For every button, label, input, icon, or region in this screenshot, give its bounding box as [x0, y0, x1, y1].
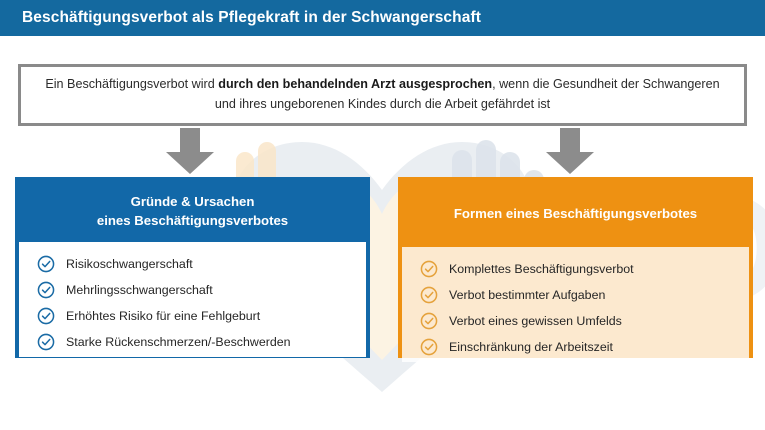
check-circle-icon	[37, 333, 55, 351]
card-gruende-ursachen: Gründe & Ursachen eines Beschäftigungsve…	[15, 177, 370, 358]
list-item: Mehrlingsschwangerschaft	[37, 277, 356, 303]
card-formen: Formen eines Beschäftigungsverbotes Komp…	[398, 177, 753, 358]
list-item-label: Risikoschwangerschaft	[66, 257, 193, 271]
list-item: Verbot bestimmter Aufgaben	[420, 282, 739, 308]
card-left-body: Risikoschwangerschaft Mehrlingsschwanger…	[19, 242, 366, 357]
check-circle-icon	[37, 281, 55, 299]
list-item-label: Verbot bestimmter Aufgaben	[449, 288, 605, 302]
page-title: Beschäftigungsverbot als Pflegekraft in …	[22, 9, 481, 27]
list-item-label: Komplettes Beschäftigungsverbot	[449, 262, 634, 276]
list-item: Erhöhtes Risiko für eine Fehlgeburt	[37, 303, 356, 329]
page-header-bar: Beschäftigungsverbot als Pflegekraft in …	[0, 0, 765, 36]
list-item: Komplettes Beschäftigungsverbot	[420, 256, 739, 282]
check-circle-icon	[420, 312, 438, 330]
intro-statement-box: Ein Beschäftigungsverbot wird durch den …	[18, 64, 747, 126]
card-left-header: Gründe & Ursachen eines Beschäftigungsve…	[19, 181, 366, 242]
list-item-label: Einschränkung der Arbeitszeit	[449, 340, 613, 354]
infographic-page: PMI RO Beschäftigungsverbot als Pflegekr…	[0, 0, 765, 430]
list-item: Risikoschwangerschaft	[37, 251, 356, 277]
card-right-header: Formen eines Beschäftigungsverbotes	[402, 181, 749, 247]
check-circle-icon	[420, 338, 438, 356]
card-right-title-line1: Formen eines Beschäftigungsverbotes	[412, 204, 739, 223]
intro-text-before: Ein Beschäftigungsverbot wird	[45, 77, 218, 91]
card-right-body: Komplettes Beschäftigungsverbot Verbot b…	[402, 247, 749, 362]
list-item-label: Erhöhtes Risiko für eine Fehlgeburt	[66, 309, 260, 323]
list-item: Starke Rückenschmerzen/-Beschwerden	[37, 329, 356, 355]
intro-statement-text: Ein Beschäftigungsverbot wird durch den …	[21, 75, 744, 114]
check-circle-icon	[37, 255, 55, 273]
check-circle-icon	[420, 286, 438, 304]
intro-text-bold: durch den behandelnden Arzt ausgesproche…	[218, 77, 492, 91]
card-left-title-line1: Gründe & Ursachen	[29, 192, 356, 211]
list-item: Verbot eines gewissen Umfelds	[420, 308, 739, 334]
arrow-down-icon-left	[163, 128, 217, 174]
list-item-label: Verbot eines gewissen Umfelds	[449, 314, 622, 328]
list-item-label: Starke Rückenschmerzen/-Beschwerden	[66, 335, 291, 349]
list-item-label: Mehrlingsschwangerschaft	[66, 283, 213, 297]
card-left-title-line2: eines Beschäftigungsverbotes	[29, 211, 356, 230]
check-circle-icon	[420, 260, 438, 278]
list-item: Einschränkung der Arbeitszeit	[420, 334, 739, 360]
arrow-down-icon-right	[543, 128, 597, 174]
check-circle-icon	[37, 307, 55, 325]
